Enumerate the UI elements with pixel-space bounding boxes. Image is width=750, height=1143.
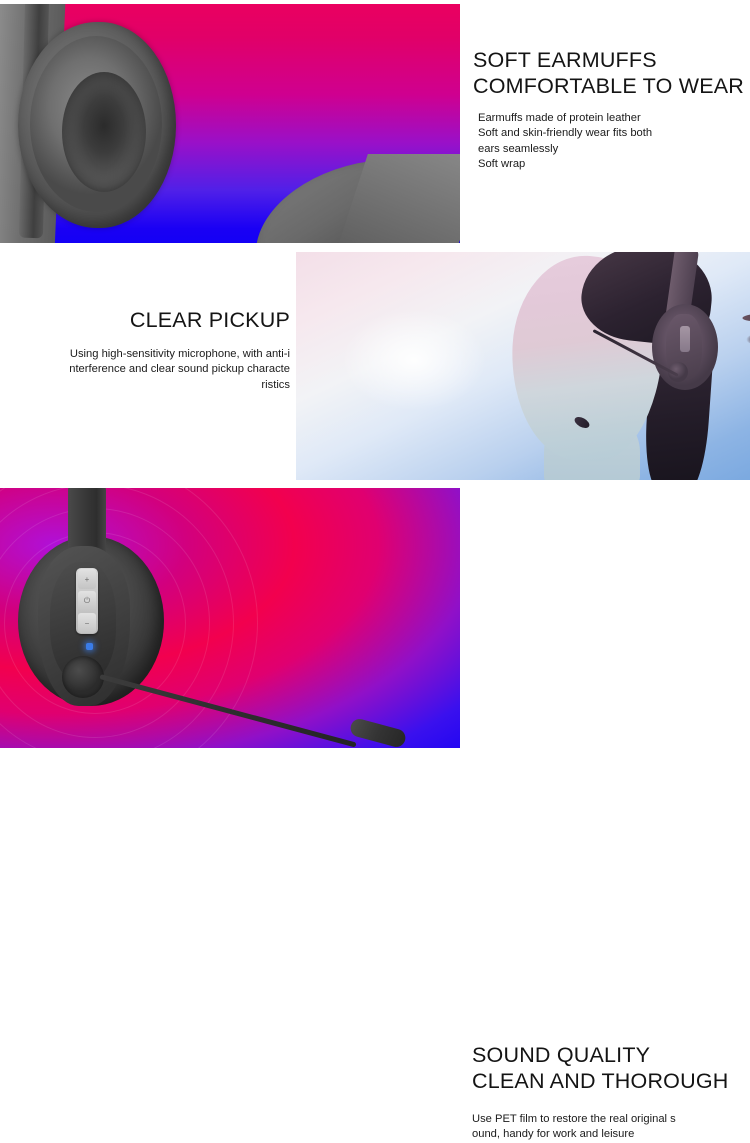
body-line: ears seamlessly [478, 142, 741, 157]
worn-headset-buttons-shape [680, 326, 690, 352]
body-line: Use PET film to restore the real origina… [472, 1112, 740, 1127]
feature-copy-clear-pickup: CLEAR PICKUP Using high-sensitivity micr… [16, 307, 290, 393]
status-led-indicator [86, 643, 93, 650]
feature-copy-soft-earmuffs: SOFT EARMUFFS COMFORTABLE TO WEAR Earmuf… [473, 47, 741, 173]
body-line: ound, handy for work and leisure [472, 1127, 740, 1142]
product-photo-earmuff-closeup [0, 4, 460, 243]
power-button[interactable]: ⏻ [78, 591, 96, 611]
boom-mic-capsule-shape [349, 717, 408, 748]
body-copy: Using high-sensitivity microphone, with … [16, 347, 290, 393]
headline-line-1: CLEAR PICKUP [16, 307, 290, 333]
feature-copy-sound-quality: SOUND QUALITY CLEAN AND THOROUGH Use PET… [472, 1042, 740, 1143]
feature-panel-clear-pickup: CLEAR PICKUP Using high-sensitivity micr… [0, 245, 750, 485]
headline-line-2: COMFORTABLE TO WEAR [473, 73, 741, 99]
earmuff-outer-shape [18, 22, 176, 228]
headline-line-1: SOFT EARMUFFS [473, 47, 741, 73]
body-line: Soft and skin-friendly wear fits both [478, 126, 741, 141]
body-line: Using high-sensitivity microphone, with … [16, 347, 290, 362]
control-button-strip[interactable]: + ⏻ − [76, 568, 98, 634]
product-photo-woman-wearing-headset [296, 252, 750, 480]
body-copy: Earmuffs made of protein leather Soft an… [478, 111, 741, 173]
headline-line-1: SOUND QUALITY [472, 1042, 740, 1068]
headline-line-2: CLEAN AND THOROUGH [472, 1068, 740, 1094]
body-line: Earmuffs made of protein leather [478, 111, 741, 126]
mic-pivot-knob-shape [62, 656, 104, 698]
feature-panel-soft-earmuffs: SOFT EARMUFFS COMFORTABLE TO WEAR Earmuf… [0, 0, 750, 245]
background-glow-shape [314, 290, 514, 430]
body-line: ristics [16, 378, 290, 393]
model-eyebrow-left-shape [742, 312, 750, 322]
product-photo-earcup-with-boom-mic: + ⏻ − [0, 488, 460, 748]
feature-panel-sound-quality: + ⏻ − SOUND QUALITY CLEAN AND THOROUGH U… [0, 485, 750, 750]
body-copy: Use PET film to restore the real origina… [472, 1112, 740, 1143]
body-line: Soft wrap [478, 157, 741, 172]
earmuff-inner-opening-shape [62, 72, 146, 192]
earmuff-cushion-shape [30, 36, 162, 212]
body-line: nterference and clear sound pickup chara… [16, 362, 290, 377]
volume-up-button[interactable]: + [78, 569, 96, 589]
product-feature-page: SOFT EARMUFFS COMFORTABLE TO WEAR Earmuf… [0, 0, 750, 750]
volume-down-button[interactable]: − [78, 613, 96, 633]
model-eye-left-shape [746, 333, 750, 346]
